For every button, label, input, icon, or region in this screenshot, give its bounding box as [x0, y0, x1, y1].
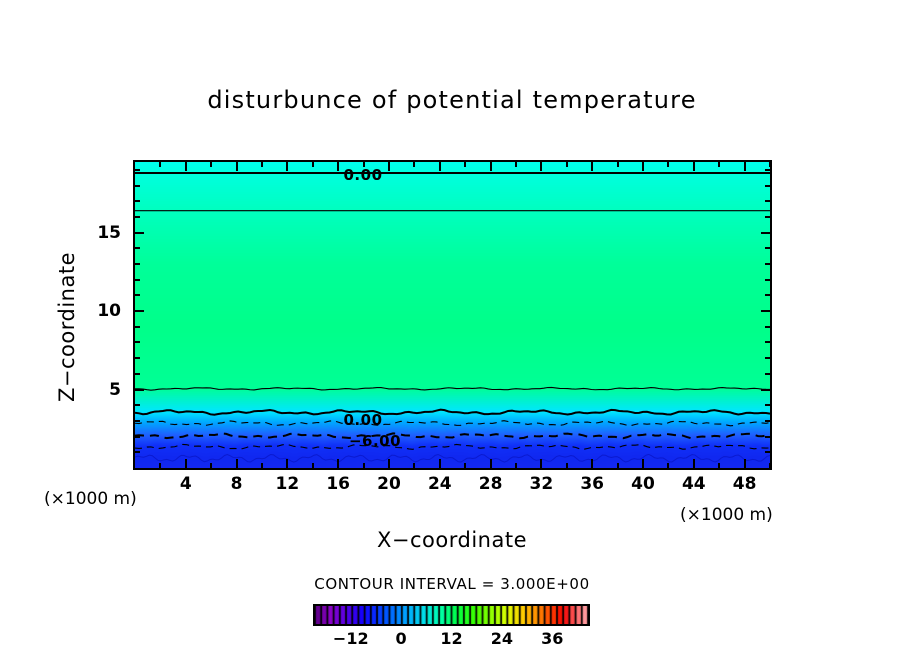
- colorbar-tick-label: 24: [491, 629, 513, 648]
- x-tick-major: [439, 459, 441, 468]
- x-tick-label: 48: [733, 474, 757, 494]
- x-tick-major: [185, 459, 187, 468]
- y-tick-minor: [135, 341, 140, 343]
- x-tick-minor: [718, 463, 720, 468]
- y-tick-minor: [135, 216, 140, 218]
- y-tick-label: 5: [21, 380, 121, 400]
- x-tick-minor: [667, 463, 669, 468]
- x-tick-label: 40: [631, 474, 655, 494]
- y-tick-minor-right: [765, 373, 770, 375]
- x-tick-label: 20: [377, 474, 401, 494]
- x-tick-minor-top: [363, 162, 365, 167]
- colorbar-tick-label: 0: [396, 629, 407, 648]
- colorbar-tick-label: −12: [333, 629, 369, 648]
- y-tick-minor: [135, 373, 140, 375]
- x-tick-label: 16: [326, 474, 350, 494]
- x-tick-major-top: [540, 162, 542, 171]
- x-tick-major-top: [388, 162, 390, 171]
- y-tick-minor: [135, 420, 140, 422]
- x-axis-units-left: (×1000 m): [44, 489, 137, 509]
- x-tick-major: [236, 459, 238, 468]
- colorbar-gradient: [315, 606, 588, 624]
- y-tick-minor-right: [765, 326, 770, 328]
- x-tick-minor-top: [464, 162, 466, 167]
- x-tick-minor-top: [769, 162, 771, 167]
- x-tick-major: [693, 459, 695, 468]
- x-tick-minor-top: [261, 162, 263, 167]
- x-axis-units-right: (×1000 m): [680, 505, 773, 525]
- y-tick-minor: [135, 169, 140, 171]
- x-tick-major: [540, 459, 542, 468]
- x-tick-minor: [210, 463, 212, 468]
- y-tick-major-right: [761, 389, 770, 391]
- x-tick-minor-top: [667, 162, 669, 167]
- x-tick-minor-top: [413, 162, 415, 167]
- x-tick-major: [490, 459, 492, 468]
- x-tick-major: [388, 459, 390, 468]
- x-tick-major-top: [286, 162, 288, 171]
- x-tick-minor-top: [718, 162, 720, 167]
- x-tick-minor: [261, 463, 263, 468]
- x-tick-major-top: [185, 162, 187, 171]
- x-tick-major: [744, 459, 746, 468]
- y-tick-minor: [135, 326, 140, 328]
- colorbar: [313, 604, 590, 626]
- x-tick-label: 28: [479, 474, 503, 494]
- x-tick-label: 24: [428, 474, 452, 494]
- y-tick-minor: [135, 279, 140, 281]
- y-tick-minor-right: [765, 279, 770, 281]
- y-tick-minor: [135, 294, 140, 296]
- x-tick-major-top: [236, 162, 238, 171]
- colorbar-tick-label: 36: [541, 629, 563, 648]
- y-tick-minor-right: [765, 263, 770, 265]
- x-tick-minor: [566, 463, 568, 468]
- x-tick-minor-top: [210, 162, 212, 167]
- contour-label-zero-lower: 0.00: [343, 411, 382, 429]
- y-tick-minor: [135, 436, 140, 438]
- contour-plot-area: [133, 160, 772, 470]
- y-tick-label: 15: [21, 223, 121, 243]
- y-axis-title: Z−coordinate: [55, 212, 79, 442]
- x-tick-minor: [159, 463, 161, 468]
- x-tick-major-top: [439, 162, 441, 171]
- x-tick-minor-top: [617, 162, 619, 167]
- x-tick-major: [337, 459, 339, 468]
- y-tick-minor: [135, 451, 140, 453]
- y-tick-minor: [135, 247, 140, 249]
- colorbar-tick-label: 12: [440, 629, 462, 648]
- x-tick-label: 44: [682, 474, 706, 494]
- y-tick-minor-right: [765, 185, 770, 187]
- x-tick-major: [642, 459, 644, 468]
- y-tick-minor-right: [765, 247, 770, 249]
- x-tick-minor: [464, 463, 466, 468]
- x-tick-major-top: [490, 162, 492, 171]
- contour-label-minus-six: −6.00: [349, 432, 401, 450]
- y-tick-minor-right: [765, 357, 770, 359]
- x-axis-title: X−coordinate: [0, 528, 904, 552]
- x-tick-minor: [413, 463, 415, 468]
- x-tick-label: 4: [180, 474, 192, 494]
- x-tick-major-top: [744, 162, 746, 171]
- y-tick-minor: [135, 200, 140, 202]
- x-tick-minor: [769, 463, 771, 468]
- x-tick-major-top: [642, 162, 644, 171]
- x-tick-minor-top: [515, 162, 517, 167]
- x-tick-minor-top: [312, 162, 314, 167]
- x-tick-minor: [617, 463, 619, 468]
- y-tick-minor: [135, 185, 140, 187]
- x-tick-minor: [363, 463, 365, 468]
- y-tick-minor-right: [765, 420, 770, 422]
- x-tick-label: 12: [276, 474, 300, 494]
- y-tick-major: [135, 232, 144, 234]
- y-tick-minor-right: [765, 404, 770, 406]
- x-tick-major: [591, 459, 593, 468]
- y-tick-minor-right: [765, 200, 770, 202]
- page-title: disturbunce of potential temperature: [0, 86, 904, 114]
- x-tick-major-top: [337, 162, 339, 171]
- x-tick-minor-top: [566, 162, 568, 167]
- y-tick-major: [135, 389, 144, 391]
- x-tick-label: 32: [530, 474, 554, 494]
- y-tick-major: [135, 310, 144, 312]
- x-tick-major-top: [591, 162, 593, 171]
- x-tick-label: 36: [580, 474, 604, 494]
- x-tick-major: [286, 459, 288, 468]
- x-tick-minor: [312, 463, 314, 468]
- temperature-field-image: [135, 162, 770, 468]
- y-tick-minor: [135, 357, 140, 359]
- contour-interval-caption: CONTOUR INTERVAL = 3.000E+00: [0, 575, 904, 593]
- y-tick-label: 10: [21, 301, 121, 321]
- contour-label-zero-top: 0.00: [343, 166, 382, 184]
- x-tick-minor: [515, 463, 517, 468]
- y-tick-minor-right: [765, 341, 770, 343]
- y-tick-minor-right: [765, 169, 770, 171]
- x-tick-major-top: [693, 162, 695, 171]
- y-tick-major-right: [761, 232, 770, 234]
- x-tick-label: 8: [231, 474, 243, 494]
- y-tick-minor: [135, 404, 140, 406]
- x-tick-minor-top: [159, 162, 161, 167]
- y-tick-minor-right: [765, 436, 770, 438]
- y-tick-minor-right: [765, 216, 770, 218]
- y-tick-minor-right: [765, 294, 770, 296]
- y-tick-minor: [135, 263, 140, 265]
- y-tick-major-right: [761, 310, 770, 312]
- y-tick-minor-right: [765, 451, 770, 453]
